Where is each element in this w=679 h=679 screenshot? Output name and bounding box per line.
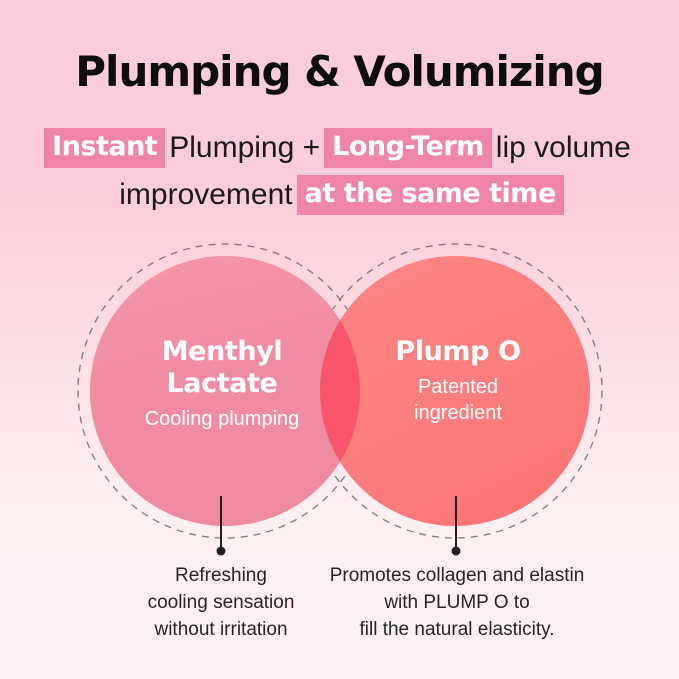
page-title: Plumping & Volumizing — [0, 46, 679, 98]
venn-outline-left — [78, 244, 372, 538]
caption-right-line-3: fill the natural elasticity. — [318, 616, 596, 643]
venn-label-right-subtitle-line2: ingredient — [348, 400, 568, 426]
subheadline-text-improvement: improvement — [115, 172, 296, 218]
caption-right-line-1: Promotes collagen and elastin — [318, 562, 596, 589]
subheadline-line-2: improvementat the same time — [0, 171, 679, 218]
caption-left-line-1: Refreshing — [120, 562, 322, 589]
venn-label-right-subtitle-line1: Patented — [348, 374, 568, 400]
pointer-right — [452, 496, 461, 556]
caption-left-line-2: cooling sensation — [120, 589, 322, 616]
caption-left-line-3: without irritation — [120, 616, 322, 643]
subheadline-line-1: InstantPlumping +Long-Termlip volume — [0, 124, 679, 171]
subheadline: InstantPlumping +Long-Termlip volume imp… — [0, 124, 679, 218]
pointer-left — [217, 496, 226, 556]
subheadline-text-plumping: Plumping + — [165, 125, 324, 171]
infographic-root: Plumping & Volumizing InstantPlumping +L… — [0, 0, 679, 679]
venn-label-left: Menthyl Lactate Cooling plumping — [100, 336, 344, 432]
subheadline-highlight-same-time: at the same time — [297, 175, 564, 215]
venn-label-left-title-line1: Menthyl — [100, 336, 344, 368]
subheadline-highlight-instant: Instant — [44, 128, 165, 168]
venn-circle-right — [320, 256, 590, 526]
venn-label-right-title: Plump O — [348, 336, 568, 368]
venn-circle-left — [90, 256, 360, 526]
venn-label-left-title-line2: Lactate — [100, 368, 344, 400]
venn-outline-right — [308, 244, 602, 538]
caption-right: Promotes collagen and elastin with PLUMP… — [318, 562, 596, 643]
caption-left: Refreshing cooling sensation without irr… — [120, 562, 322, 643]
subheadline-text-lip-volume: lip volume — [492, 125, 635, 171]
caption-right-line-2: with PLUMP O to — [318, 589, 596, 616]
venn-label-right: Plump O Patented ingredient — [348, 336, 568, 426]
venn-label-left-subtitle: Cooling plumping — [100, 406, 344, 432]
venn-overlap — [320, 256, 590, 526]
subheadline-highlight-long-term: Long-Term — [324, 128, 492, 168]
